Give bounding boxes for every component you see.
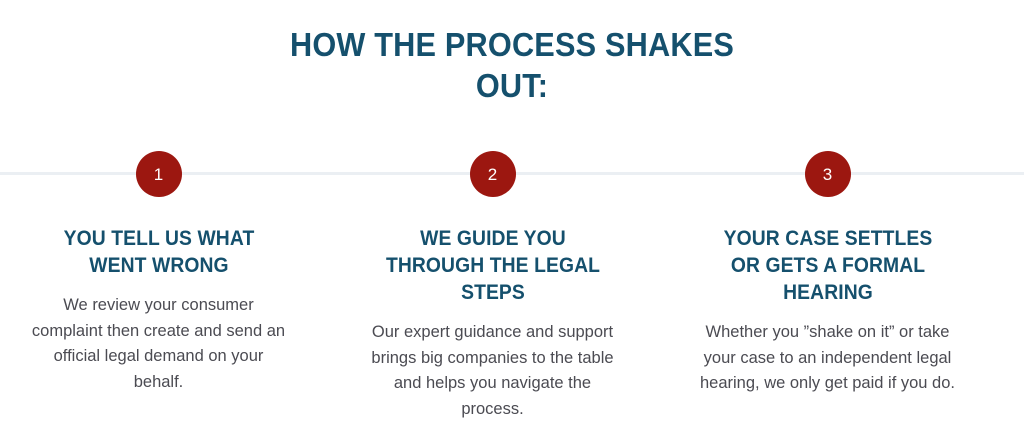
- step-number-label: 3: [823, 166, 832, 183]
- step-body-3: Whether you ”shake on it” or take your c…: [699, 320, 957, 397]
- step-number-badge-2: 2: [470, 151, 516, 197]
- steps-list: 1 YOU TELL US WHAT WENT WRONG We review …: [0, 151, 1024, 422]
- step-heading-1: YOU TELL US WHAT WENT WRONG: [37, 225, 280, 279]
- step-item-2: 2 WE GUIDE YOU THROUGH THE LEGAL STEPS O…: [371, 151, 614, 422]
- step-item-3: 3 YOUR CASE SETTLES OR GETS A FORMAL HEA…: [706, 151, 949, 397]
- page-title: HOW THE PROCESS SHAKES OUT:: [36, 24, 988, 106]
- step-heading-2: WE GUIDE YOU THROUGH THE LEGAL STEPS: [371, 225, 614, 306]
- step-number-badge-3: 3: [805, 151, 851, 197]
- step-number-label: 2: [488, 166, 497, 183]
- step-heading-3: YOUR CASE SETTLES OR GETS A FORMAL HEARI…: [706, 225, 949, 306]
- step-body-2: Our expert guidance and support brings b…: [364, 320, 622, 422]
- step-body-1: We review your consumer complaint then c…: [30, 293, 288, 395]
- process-steps-section: HOW THE PROCESS SHAKES OUT: 1 YOU TELL U…: [0, 0, 1024, 426]
- step-item-1: 1 YOU TELL US WHAT WENT WRONG We review …: [37, 151, 280, 395]
- step-number-label: 1: [154, 166, 163, 183]
- step-number-badge-1: 1: [136, 151, 182, 197]
